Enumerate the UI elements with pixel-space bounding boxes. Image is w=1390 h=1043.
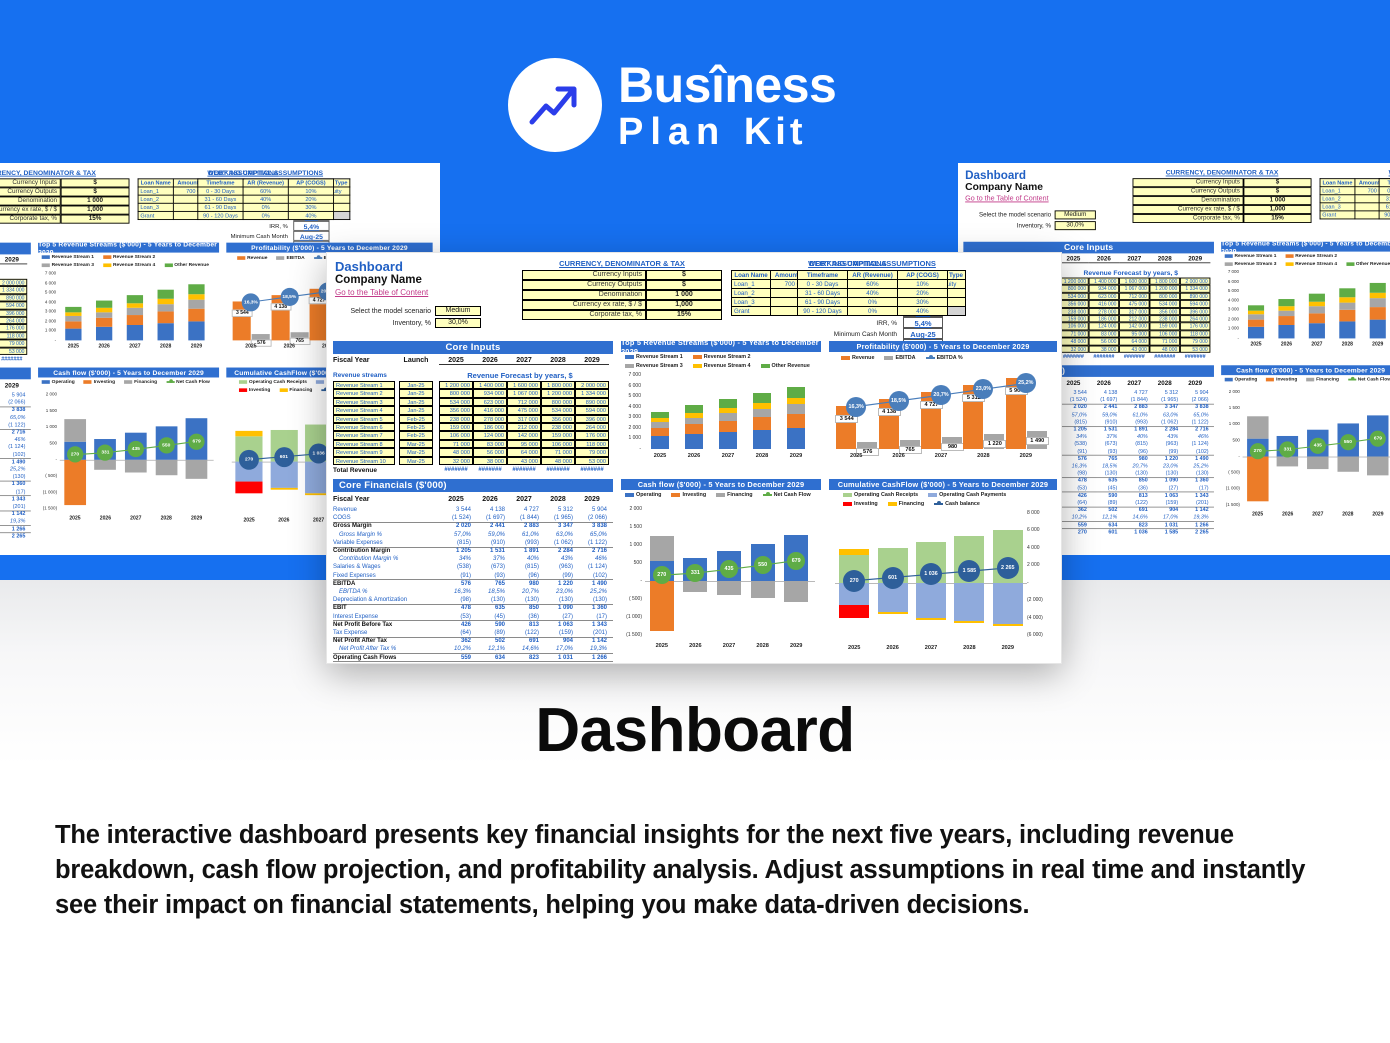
- currency-section-title: CURRENCY, DENOMINATOR & TAX: [0, 168, 129, 176]
- year-header: 2029: [575, 357, 609, 365]
- bar-segment: [96, 312, 112, 318]
- chart-top5-revenue[interactable]: Top 5 Revenue Streams ($'000) - 5 Years …: [621, 341, 821, 471]
- revenue-stream-value[interactable]: 48 000: [439, 448, 473, 456]
- revenue-stream-value[interactable]: 186 000: [473, 423, 507, 431]
- currency-row-value[interactable]: $: [1244, 187, 1312, 196]
- revenue-stream-value[interactable]: 53 000: [575, 457, 609, 465]
- legend-swatch: [1346, 262, 1354, 266]
- revenue-stream-value[interactable]: 38 000: [473, 457, 507, 465]
- revenue-stream-value[interactable]: 623 000: [1089, 293, 1119, 301]
- debt-cell[interactable]: [173, 203, 208, 211]
- chart-title-top5: Top 5 Revenue Streams ($'000) - 5 Years …: [38, 243, 219, 253]
- debt-col-header: Interest, %: [279, 179, 314, 187]
- revenue-stream-value[interactable]: 71 000: [1150, 338, 1180, 346]
- scenario-select[interactable]: Medium: [435, 306, 481, 316]
- revenue-stream-value[interactable]: 800 000: [1058, 285, 1088, 293]
- revenue-stream-value[interactable]: 64 000: [1119, 338, 1149, 346]
- x-tick-label: 2026: [1273, 342, 1300, 347]
- financial-row-value: 2 284: [541, 548, 573, 554]
- revenue-stream-value[interactable]: 356 000: [541, 415, 575, 423]
- debt-cell[interactable]: 72: [244, 187, 279, 195]
- debt-cell[interactable]: 72: [849, 280, 888, 289]
- revenue-stream-value[interactable]: 118 000: [1180, 330, 1210, 338]
- bar-segment: [651, 412, 669, 419]
- bar-segment: [719, 413, 737, 421]
- revenue-stream-value[interactable]: 118 000: [575, 440, 609, 448]
- debt-cell[interactable]: Loan_2: [138, 195, 173, 203]
- total-revenue-cell: #######: [439, 467, 473, 473]
- revenue-stream-value[interactable]: 534 000: [541, 406, 575, 414]
- bar-segment: [1309, 294, 1325, 302]
- debt-cell[interactable]: Jan-25: [209, 187, 244, 195]
- table-row[interactable]: Loan_1700 000Jan-25728,0%Annuity: [732, 280, 966, 289]
- revenue-stream-value[interactable]: 317 000: [507, 415, 541, 423]
- currency-row-value[interactable]: 1 000: [646, 290, 722, 300]
- bar-segment: [65, 306, 81, 312]
- revenue-stream-value[interactable]: 159 000: [1058, 315, 1088, 323]
- revenue-stream-value[interactable]: 1 200 000: [439, 381, 473, 389]
- x-tick-label: 2029: [781, 453, 811, 459]
- revenue-stream-value[interactable]: 1 600 000: [1119, 278, 1149, 286]
- revenue-stream-value[interactable]: 1 800 000: [1150, 278, 1180, 286]
- financial-row-value: (1 122): [575, 540, 607, 546]
- y-tick: 7 000: [38, 271, 56, 276]
- revenue-stream-value[interactable]: 64 000: [507, 448, 541, 456]
- currency-row-value[interactable]: $: [646, 270, 722, 280]
- revenue-stream-value[interactable]: 1 200 000: [1150, 285, 1180, 293]
- inventory-input[interactable]: 30,0%: [1055, 221, 1096, 230]
- x-tick-label: 2026: [91, 344, 118, 349]
- debt-cell[interactable]: [173, 195, 208, 203]
- revenue-stream-value[interactable]: 2 000 000: [1180, 278, 1210, 286]
- revenue-stream-value[interactable]: 53 000: [1180, 345, 1210, 353]
- currency-row-value[interactable]: 15%: [61, 215, 130, 224]
- revenue-stream-value[interactable]: 712 000: [507, 398, 541, 406]
- revenue-stream-value[interactable]: 159 000: [439, 423, 473, 431]
- currency-row-value[interactable]: 1,000: [61, 206, 130, 215]
- launch-label: Launch: [399, 357, 433, 364]
- revenue-stream-value[interactable]: 396 000: [575, 415, 609, 423]
- debt-cell[interactable]: [849, 298, 888, 307]
- revenue-stream-name[interactable]: Revenue Stream 3: [333, 398, 395, 406]
- scenario-select[interactable]: Medium: [1055, 210, 1096, 219]
- debt-cell[interactable]: Grant: [1320, 211, 1355, 219]
- revenue-stream-value[interactable]: 53 000: [0, 347, 27, 355]
- revenue-stream-value[interactable]: 56 000: [1089, 338, 1119, 346]
- debt-cell[interactable]: [209, 195, 244, 203]
- table-row[interactable]: Loan_3: [1320, 203, 1390, 211]
- legend-swatch: [761, 364, 770, 368]
- bar-segment: [65, 313, 81, 316]
- chart-top5-revenue[interactable]: Top 5 Revenue Streams ($'000) - 5 Years …: [1221, 242, 1390, 358]
- revenue-stream-value[interactable]: 1 200 000: [541, 389, 575, 397]
- revenue-stream-name[interactable]: Revenue Stream 2: [333, 389, 395, 397]
- currency-row-value[interactable]: $: [61, 187, 130, 196]
- revenue-stream-value[interactable]: 43 000: [1119, 345, 1149, 353]
- financial-row-value: 270: [439, 663, 471, 664]
- revenue-stream-value[interactable]: 1 067 000: [1119, 285, 1149, 293]
- financial-row-value: (27): [1150, 486, 1179, 491]
- revenue-stream-value[interactable]: 106 000: [439, 431, 473, 439]
- bar-segment: [127, 325, 143, 340]
- revenue-stream-launch[interactable]: Mar-25: [399, 440, 433, 448]
- revenue-stream-value[interactable]: 38 000: [1089, 345, 1119, 353]
- revenue-stream-launch[interactable]: Jan-25: [399, 389, 433, 397]
- debt-col-header: Launch: [810, 271, 849, 280]
- currency-row-value[interactable]: 1 000: [61, 196, 130, 205]
- revenue-stream-value[interactable]: 142 000: [507, 431, 541, 439]
- financial-row-value: 2 265: [575, 663, 607, 664]
- financial-row-value: (102): [575, 573, 607, 579]
- revenue-stream-name[interactable]: Revenue Stream 8: [333, 440, 395, 448]
- y-tick: 1 000: [621, 435, 641, 441]
- financial-row-value: 362: [439, 638, 471, 644]
- revenue-stream-value[interactable]: 83 000: [473, 440, 507, 448]
- revenue-stream-value[interactable]: 142 000: [1119, 323, 1149, 331]
- bar-segment: [158, 299, 174, 304]
- legend-swatch: [1285, 254, 1293, 258]
- revenue-stream-value[interactable]: 118 000: [0, 332, 27, 340]
- debt-cell[interactable]: 8,0%: [279, 187, 314, 195]
- debt-cell[interactable]: Loan_1: [732, 280, 771, 289]
- revenue-stream-value[interactable]: 186 000: [1089, 315, 1119, 323]
- debt-cell[interactable]: [209, 203, 244, 211]
- debt-cell[interactable]: Annuity: [927, 280, 966, 289]
- financial-row-value: 43%: [541, 556, 573, 562]
- revenue-stream-name[interactable]: Revenue Stream 4: [333, 406, 395, 414]
- revenue-stream-launch[interactable]: Jan-25: [399, 381, 433, 389]
- debt-cell[interactable]: Loan_2: [732, 289, 771, 298]
- revenue-stream-value[interactable]: 1 800 000: [541, 381, 575, 389]
- kpi-value: Aug-25: [293, 231, 329, 241]
- revenue-stream-name[interactable]: Revenue Stream 5: [333, 415, 395, 423]
- revenue-stream-value[interactable]: 95 000: [507, 440, 541, 448]
- bar-segment: [127, 295, 143, 303]
- bar-segment: [65, 321, 81, 329]
- currency-row-value[interactable]: $: [61, 178, 130, 187]
- fiscal-year-label: Fiscal Year: [333, 357, 393, 364]
- debt-cell[interactable]: Loan_1: [138, 187, 173, 195]
- currency-row-value[interactable]: 1,000: [646, 300, 722, 310]
- debt-cell[interactable]: [315, 195, 350, 203]
- debt-cell[interactable]: Jan-25: [810, 280, 849, 289]
- table-row[interactable]: Loan_1700 000Jan-25728,0%Annuity: [1320, 187, 1390, 195]
- revenue-stream-value[interactable]: 95 000: [1119, 330, 1149, 338]
- legend-label: Revenue Stream 2: [113, 254, 155, 259]
- net-cash-flow-bubble: 679: [1370, 430, 1386, 446]
- ebitda-percent-bubble: 16,3%: [846, 397, 866, 417]
- currency-row-value[interactable]: 15%: [646, 310, 722, 320]
- legend-label: Revenue Stream 4: [113, 263, 155, 268]
- financial-row-value: (815): [507, 564, 539, 570]
- table-row[interactable]: Loan_2: [138, 195, 350, 203]
- debt-cell[interactable]: Annuity: [315, 187, 350, 195]
- debt-cell[interactable]: [849, 289, 888, 298]
- y-tick: -: [1221, 336, 1239, 341]
- revenue-stream-value[interactable]: 32 000: [439, 457, 473, 465]
- revenue-stream-value[interactable]: 238 000: [439, 415, 473, 423]
- revenue-forecast-title: Revenue Forecast by years, $: [0, 270, 33, 278]
- revenue-stream-value[interactable]: 623 000: [473, 398, 507, 406]
- revenue-stream-value[interactable]: 934 000: [473, 389, 507, 397]
- financial-row-value: (130): [1089, 471, 1118, 476]
- revenue-stream-value[interactable]: 106 000: [1150, 330, 1180, 338]
- financial-row-value: 3 347: [1150, 405, 1179, 410]
- financial-row-value: 2 284: [1150, 427, 1179, 432]
- year-header: 2025: [439, 357, 473, 365]
- revenue-stream-value[interactable]: 1 400 000: [473, 381, 507, 389]
- financial-row-value: (130): [1119, 471, 1148, 476]
- debt-cell[interactable]: Grant: [138, 211, 173, 219]
- currency-row-value[interactable]: 15%: [1244, 214, 1312, 223]
- debt-cell[interactable]: [810, 298, 849, 307]
- revenue-stream-value[interactable]: 356 000: [439, 406, 473, 414]
- revenue-stream-name[interactable]: Revenue Stream 9: [333, 448, 395, 456]
- revenue-stream-launch[interactable]: Feb-25: [399, 415, 433, 423]
- revenue-stream-name[interactable]: Revenue Stream 7: [333, 431, 395, 439]
- chart-cash-flow[interactable]: Cash flow ($'000) - 5 Years to December …: [621, 479, 821, 661]
- debt-cell[interactable]: [244, 203, 279, 211]
- x-tick-label: 2025: [60, 344, 87, 349]
- revenue-stream-value[interactable]: 1 334 000: [575, 389, 609, 397]
- debt-cell[interactable]: [244, 195, 279, 203]
- revenue-stream-value[interactable]: 264 000: [1180, 315, 1210, 323]
- bar-segment: [1370, 283, 1386, 293]
- revenue-stream-value[interactable]: 800 000: [439, 389, 473, 397]
- year-header: 2028: [1150, 256, 1180, 263]
- financial-row-value: 19,3%: [0, 519, 25, 524]
- net-cash-flow-bubble: 679: [188, 433, 204, 449]
- revenue-stream-launch[interactable]: Feb-25: [399, 431, 433, 439]
- revenue-stream-value[interactable]: 106 000: [1058, 323, 1088, 331]
- revenue-stream-value[interactable]: 356 000: [1150, 308, 1180, 316]
- revenue-stream-value[interactable]: 534 000: [1150, 300, 1180, 308]
- financial-row-label: Depreciation & Amortization: [333, 597, 407, 603]
- financial-row-label: Net Profit After Tax %: [339, 646, 396, 652]
- revenue-stream-value[interactable]: 278 000: [1089, 308, 1119, 316]
- revenue-stream-value[interactable]: 356 000: [1058, 300, 1088, 308]
- currency-row-value[interactable]: 1 000: [1244, 196, 1312, 205]
- revenue-stream-value[interactable]: 56 000: [473, 448, 507, 456]
- revenue-stream-value[interactable]: 594 000: [1180, 300, 1210, 308]
- debt-cell[interactable]: [810, 289, 849, 298]
- revenue-stream-launch[interactable]: Feb-25: [399, 423, 433, 431]
- chart-cash-flow[interactable]: Cash flow ($'000) - 5 Years to December …: [38, 368, 219, 533]
- revenue-stream-value[interactable]: 534 000: [439, 398, 473, 406]
- dashboard-screenshot-center[interactable]: DashboardCompany NameGo to the Table of …: [326, 252, 1062, 664]
- financial-row-value: (1 965): [541, 515, 573, 521]
- bar-segment: [188, 308, 204, 321]
- debt-cell[interactable]: [771, 298, 810, 307]
- debt-cell[interactable]: [927, 289, 966, 298]
- revenue-stream-value[interactable]: 212 000: [1119, 315, 1149, 323]
- table-row[interactable]: Loan_1700 000Jan-25728,0%Annuity: [138, 187, 350, 195]
- financial-row-value: 3 544: [1058, 390, 1087, 395]
- financial-row-value: 2 883: [1119, 405, 1148, 410]
- revenue-stream-value[interactable]: 106 000: [541, 440, 575, 448]
- revenue-stream-value[interactable]: 71 000: [541, 448, 575, 456]
- revenue-stream-value[interactable]: 800 000: [541, 398, 575, 406]
- debt-cell[interactable]: Loan_2: [1320, 195, 1355, 203]
- currency-row-value[interactable]: $: [1244, 178, 1312, 187]
- revenue-stream-value[interactable]: 2 000 000: [575, 381, 609, 389]
- revenue-stream-value[interactable]: 1 400 000: [1089, 278, 1119, 286]
- debt-cell[interactable]: Loan_1: [1320, 187, 1355, 195]
- revenue-stream-value[interactable]: 317 000: [1119, 308, 1149, 316]
- debt-cell[interactable]: 8,0%: [888, 280, 927, 289]
- revenue-stream-value[interactable]: 594 000: [0, 302, 27, 310]
- debt-cell[interactable]: [1355, 203, 1390, 211]
- table-of-content-link[interactable]: Go to the Table of Content: [335, 288, 428, 297]
- revenue-stream-value[interactable]: 264 000: [0, 317, 27, 325]
- debt-cell[interactable]: [279, 195, 314, 203]
- currency-row-value[interactable]: $: [646, 280, 722, 290]
- revenue-stream-value[interactable]: 934 000: [1089, 285, 1119, 293]
- financial-row-value: (1 124): [575, 564, 607, 570]
- bar-segment: [685, 418, 703, 425]
- debt-cell[interactable]: Grant: [732, 307, 771, 316]
- revenue-stream-value[interactable]: 416 000: [473, 406, 507, 414]
- revenue-stream-name[interactable]: Revenue Stream 1: [333, 381, 395, 389]
- revenue-stream-value[interactable]: 43 000: [507, 457, 541, 465]
- debt-cell[interactable]: [888, 289, 927, 298]
- revenue-stream-value[interactable]: 124 000: [1089, 323, 1119, 331]
- chart-legend: Revenue Stream 1 Revenue Stream 2 Revenu…: [625, 354, 817, 369]
- revenue-stream-value[interactable]: 159 000: [541, 431, 575, 439]
- financial-row-value: 3 838: [1180, 405, 1209, 410]
- financial-row-value: 362: [1058, 508, 1087, 513]
- revenue-stream-value[interactable]: 32 000: [1058, 345, 1088, 353]
- revenue-stream-value[interactable]: 264 000: [575, 423, 609, 431]
- currency-row-label: Currency Inputs: [522, 270, 646, 280]
- revenue-stream-launch[interactable]: Jan-25: [399, 406, 433, 414]
- bar-segment: [1248, 314, 1264, 319]
- revenue-stream-value[interactable]: 176 000: [0, 324, 27, 332]
- revenue-stream-value[interactable]: 79 000: [1180, 338, 1210, 346]
- revenue-stream-value[interactable]: 83 000: [1089, 330, 1119, 338]
- revenue-stream-value[interactable]: 396 000: [1180, 308, 1210, 316]
- kpi-label: IRR, %: [797, 320, 897, 327]
- revenue-stream-name[interactable]: Revenue Stream 10: [333, 457, 395, 465]
- debt-cell[interactable]: Loan_3: [138, 203, 173, 211]
- bar-segment: [188, 294, 204, 300]
- y-tick: 7 000: [1221, 270, 1239, 275]
- revenue-stream-value[interactable]: 48 000: [1058, 338, 1088, 346]
- debt-cell[interactable]: Loan_3: [1320, 203, 1355, 211]
- revenue-stream-value[interactable]: 176 000: [1180, 323, 1210, 331]
- table-row[interactable]: Loan_2: [732, 289, 966, 298]
- financial-row-value: 2 883: [507, 523, 539, 529]
- debt-cell[interactable]: [1355, 195, 1390, 203]
- chart-profitability[interactable]: Profitability ($'000) - 5 Years to Decem…: [829, 341, 1057, 471]
- debt-cell[interactable]: 700 000: [1355, 187, 1390, 195]
- revenue-stream-value[interactable]: 48 000: [541, 457, 575, 465]
- debt-cell[interactable]: [771, 289, 810, 298]
- chart-cumulative-cashflow[interactable]: Cumulative CashFlow ($'000) - 5 Years to…: [829, 479, 1057, 661]
- revenue-stream-value[interactable]: 238 000: [1150, 315, 1180, 323]
- financial-row-value: 1 490: [575, 581, 607, 587]
- revenue-stream-value[interactable]: 159 000: [1150, 323, 1180, 331]
- chart-cash-flow[interactable]: Cash flow ($'000) - 5 Years to December …: [1221, 365, 1390, 528]
- revenue-stream-value[interactable]: 594 000: [575, 406, 609, 414]
- debt-cell[interactable]: Loan_3: [732, 298, 771, 307]
- revenue-stream-value[interactable]: 890 000: [0, 294, 27, 302]
- revenue-stream-value[interactable]: 238 000: [1058, 308, 1088, 316]
- financial-row-value: (17): [0, 489, 25, 494]
- revenue-stream-value[interactable]: 534 000: [1058, 293, 1088, 301]
- revenue-stream-value[interactable]: 416 000: [1089, 300, 1119, 308]
- y-tick: 1 000: [1221, 326, 1239, 331]
- revenue-stream-value[interactable]: 1 600 000: [507, 381, 541, 389]
- revenue-stream-value[interactable]: 800 000: [1150, 293, 1180, 301]
- revenue-stream-value[interactable]: 1 334 000: [1180, 285, 1210, 293]
- bar-segment: [753, 409, 771, 417]
- inventory-input[interactable]: 30,0%: [435, 318, 481, 328]
- revenue-stream-launch[interactable]: Mar-25: [399, 457, 433, 465]
- financial-row-value: 59,0%: [1089, 412, 1118, 417]
- total-revenue-cell: #######: [541, 467, 575, 473]
- revenue-stream-value[interactable]: 475 000: [507, 406, 541, 414]
- chart-top5-revenue[interactable]: Top 5 Revenue Streams ($'000) - 5 Years …: [38, 243, 219, 361]
- revenue-stream-value[interactable]: 71 000: [439, 440, 473, 448]
- financial-row-label: Net Profit Before Tax: [333, 622, 392, 628]
- debt-cell[interactable]: 700 000: [173, 187, 208, 195]
- revenue-stream-value[interactable]: 1 200 000: [1058, 278, 1088, 286]
- revenue-stream-value[interactable]: 48 000: [1150, 345, 1180, 353]
- bar-segment: [96, 308, 112, 312]
- revenue-stream-value[interactable]: 71 000: [1058, 330, 1088, 338]
- financial-row-label: COGS: [333, 515, 351, 521]
- debt-cell[interactable]: 700 000: [771, 280, 810, 289]
- revenue-stream-value[interactable]: 238 000: [541, 423, 575, 431]
- revenue-stream-value[interactable]: 475 000: [1119, 300, 1149, 308]
- revenue-stream-name[interactable]: Revenue Stream 6: [333, 423, 395, 431]
- y-tick: 6 000: [621, 383, 641, 389]
- revenue-stream-value[interactable]: 2 000 000: [0, 279, 27, 287]
- revenue-stream-launch[interactable]: Jan-25: [399, 398, 433, 406]
- revenue-stream-value[interactable]: 1 067 000: [507, 389, 541, 397]
- revenue-stream-value[interactable]: 712 000: [1119, 293, 1149, 301]
- financial-row-value: (1 844): [507, 515, 539, 521]
- revenue-stream-value[interactable]: 1 334 000: [0, 286, 27, 294]
- revenue-stream-value[interactable]: 124 000: [473, 431, 507, 439]
- revenue-stream-value[interactable]: 212 000: [507, 423, 541, 431]
- revenue-stream-value[interactable]: 396 000: [0, 309, 27, 317]
- currency-row-label: Denomination: [522, 290, 646, 300]
- financial-row-value: (673): [473, 564, 505, 570]
- financial-row-value: 478: [439, 605, 471, 611]
- financial-row-value: 40%: [507, 556, 539, 562]
- financial-row-value: 2 441: [473, 523, 505, 529]
- financial-row-value: 813: [507, 622, 539, 628]
- revenue-stream-value[interactable]: 890 000: [1180, 293, 1210, 301]
- bar-segment: [753, 430, 771, 449]
- revenue-stream-value[interactable]: 79 000: [575, 448, 609, 456]
- financial-row-value: 20,7%: [1119, 464, 1148, 469]
- table-of-content-link[interactable]: Go to the Table of Content: [965, 194, 1048, 202]
- financial-row-value: 1 090: [1150, 478, 1179, 483]
- financial-row-value: 1 266: [1180, 522, 1209, 527]
- revenue-stream-launch[interactable]: Mar-25: [399, 448, 433, 456]
- legend-label: Revenue Stream 3: [636, 363, 683, 369]
- revenue-stream-value[interactable]: 79 000: [0, 340, 27, 348]
- revenue-stream-value[interactable]: 176 000: [575, 431, 609, 439]
- revenue-stream-value[interactable]: 890 000: [575, 398, 609, 406]
- revenue-stream-value[interactable]: 278 000: [473, 415, 507, 423]
- growth-arrow-icon: [508, 58, 602, 152]
- table-row[interactable]: Loan_2: [1320, 195, 1390, 203]
- currency-row-value[interactable]: 1,000: [1244, 205, 1312, 214]
